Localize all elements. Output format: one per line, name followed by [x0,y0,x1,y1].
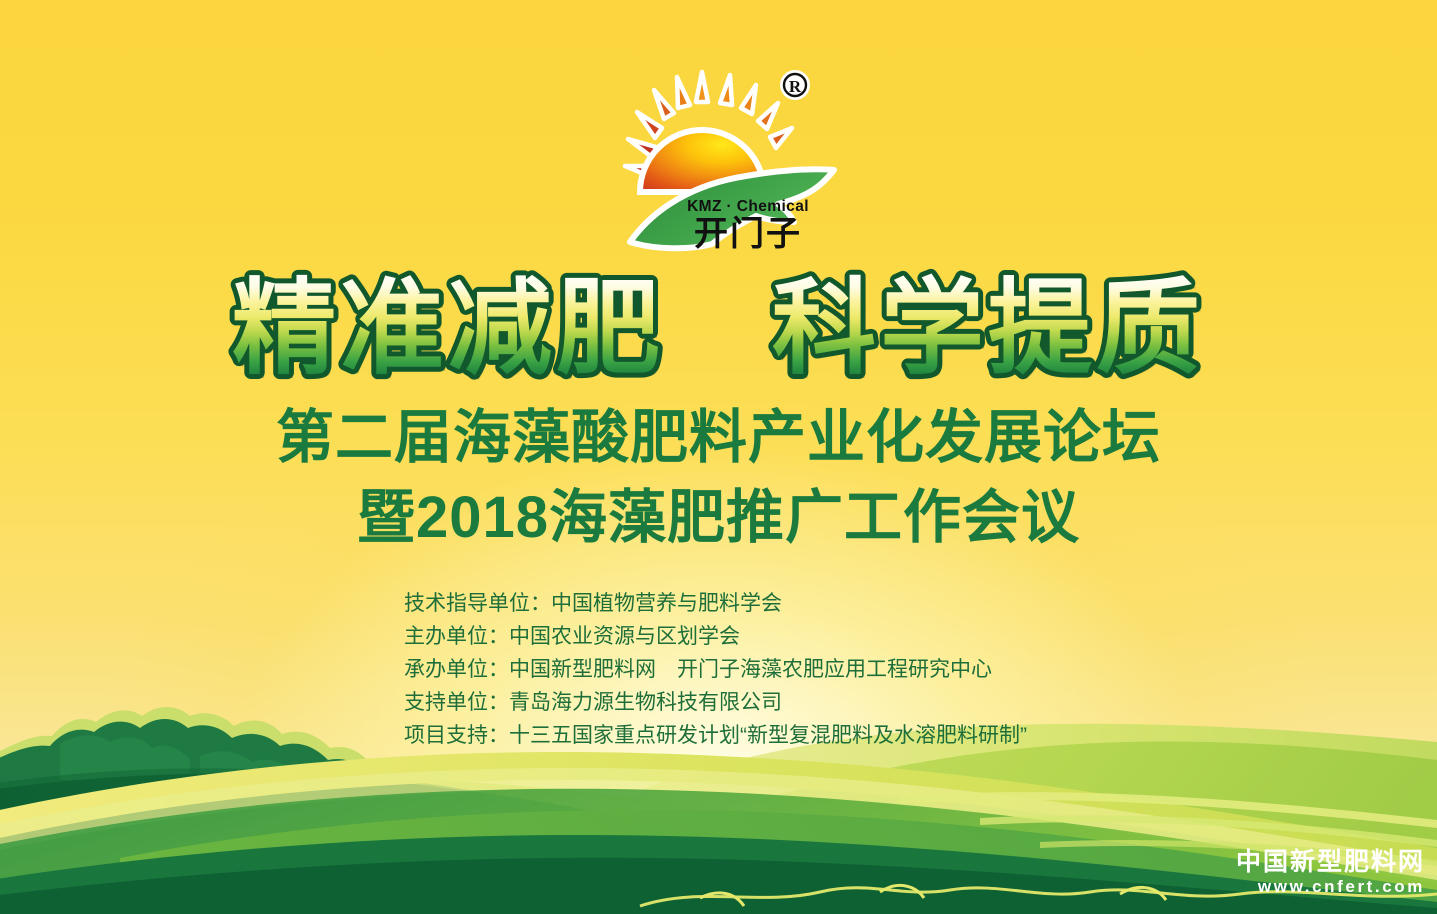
subtitle-line-1: 第二届海藻酸肥料产业化发展论坛 [0,407,1437,469]
org-line: 主办单位：中国农业资源与区划学会 [404,620,1124,653]
headline: 精准减肥 科学提质 精准减肥 科学提质 精准减肥 科学提质 [0,268,1437,393]
headline-text: 精准减肥 科学提质 [232,271,1204,387]
logo-latin-text: KMZ · Chemical [687,198,809,215]
org-line: 项目支持：十三五国家重点研发计划“新型复混肥料及水溶肥料研制” [404,719,1124,752]
site-watermark: 中国新型肥料网 www.cnfert.com [1236,849,1425,896]
company-logo: R KMZ · Chemical 开门子 [620,58,840,258]
watermark-url: www.cnfert.com [1236,878,1425,896]
org-line: 支持单位：青岛海力源生物科技有限公司 [404,686,1124,719]
event-poster: R KMZ · Chemical 开门子 [0,0,1437,914]
organization-list: 技术指导单位：中国植物营养与肥料学会 主办单位：中国农业资源与区划学会 承办单位… [404,587,1124,752]
registered-trademark-icon: R [780,70,810,100]
svg-text:R: R [789,77,802,96]
subtitle-line-2: 暨2018海藻肥推广工作会议 [0,487,1437,549]
logo-graphic: R KMZ · Chemical 开门子 [620,58,840,258]
org-line: 承办单位：中国新型肥料网 开门子海藻农肥应用工程研究中心 [404,653,1124,686]
logo-cn-text: 开门子 [694,215,802,253]
headline-graphic: 精准减肥 科学提质 精准减肥 科学提质 精准减肥 科学提质 [0,268,1437,393]
org-line: 技术指导单位：中国植物营养与肥料学会 [404,587,1124,620]
watermark-site-name: 中国新型肥料网 [1236,849,1425,876]
